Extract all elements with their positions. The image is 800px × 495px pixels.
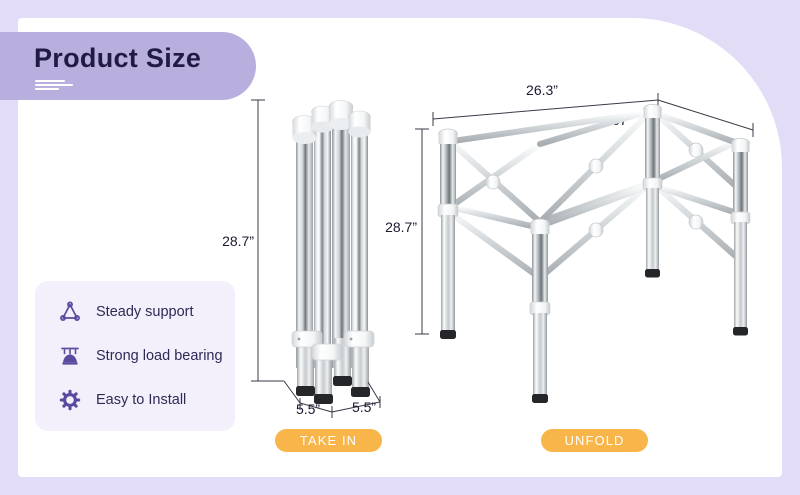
feature-item-easy-to-install: Easy to Install: [57, 387, 186, 413]
feature-list-card: Steady support Strong load bearing: [35, 281, 235, 431]
gear-icon: [57, 387, 83, 413]
product-size-infographic: Product Size Steady support: [0, 0, 800, 495]
folded-width-left-label: 5.5”: [296, 401, 320, 417]
table-leg-front-center: [530, 219, 550, 403]
unfolded-product-illustration: 26.3” 37” 28.7”: [400, 82, 770, 417]
unfold-caption-button[interactable]: UNFOLD: [541, 429, 648, 452]
table-leg-rear-right: [731, 138, 750, 335]
take-in-caption-button[interactable]: TAKE IN: [275, 429, 382, 452]
unfolded-height-dimension-line: [415, 129, 429, 334]
load-bearing-icon: [57, 343, 83, 369]
feature-label: Steady support: [96, 304, 194, 320]
triangle-support-icon: [57, 299, 83, 325]
folded-product-illustration: 28.7”: [240, 86, 410, 416]
table-leg-front-left: [438, 129, 458, 339]
folded-width-right-label: 5.5”: [352, 399, 376, 415]
feature-label: Strong load bearing: [96, 348, 223, 364]
folded-height-label: 28.7”: [222, 233, 254, 249]
unfolded-depth-label: 26.3”: [526, 82, 558, 98]
folded-top-caps: [293, 101, 371, 145]
folded-tube-bundle-rear: [296, 110, 368, 368]
feature-label: Easy to Install: [96, 392, 186, 408]
page-title: Product Size: [34, 43, 201, 74]
unfolded-height-label: 28.7”: [385, 219, 417, 235]
feature-item-steady-support: Steady support: [57, 299, 194, 325]
feature-item-strong-load-bearing: Strong load bearing: [57, 343, 223, 369]
title-underline-decoration: [35, 80, 75, 93]
header-banner: Product Size: [0, 32, 256, 100]
